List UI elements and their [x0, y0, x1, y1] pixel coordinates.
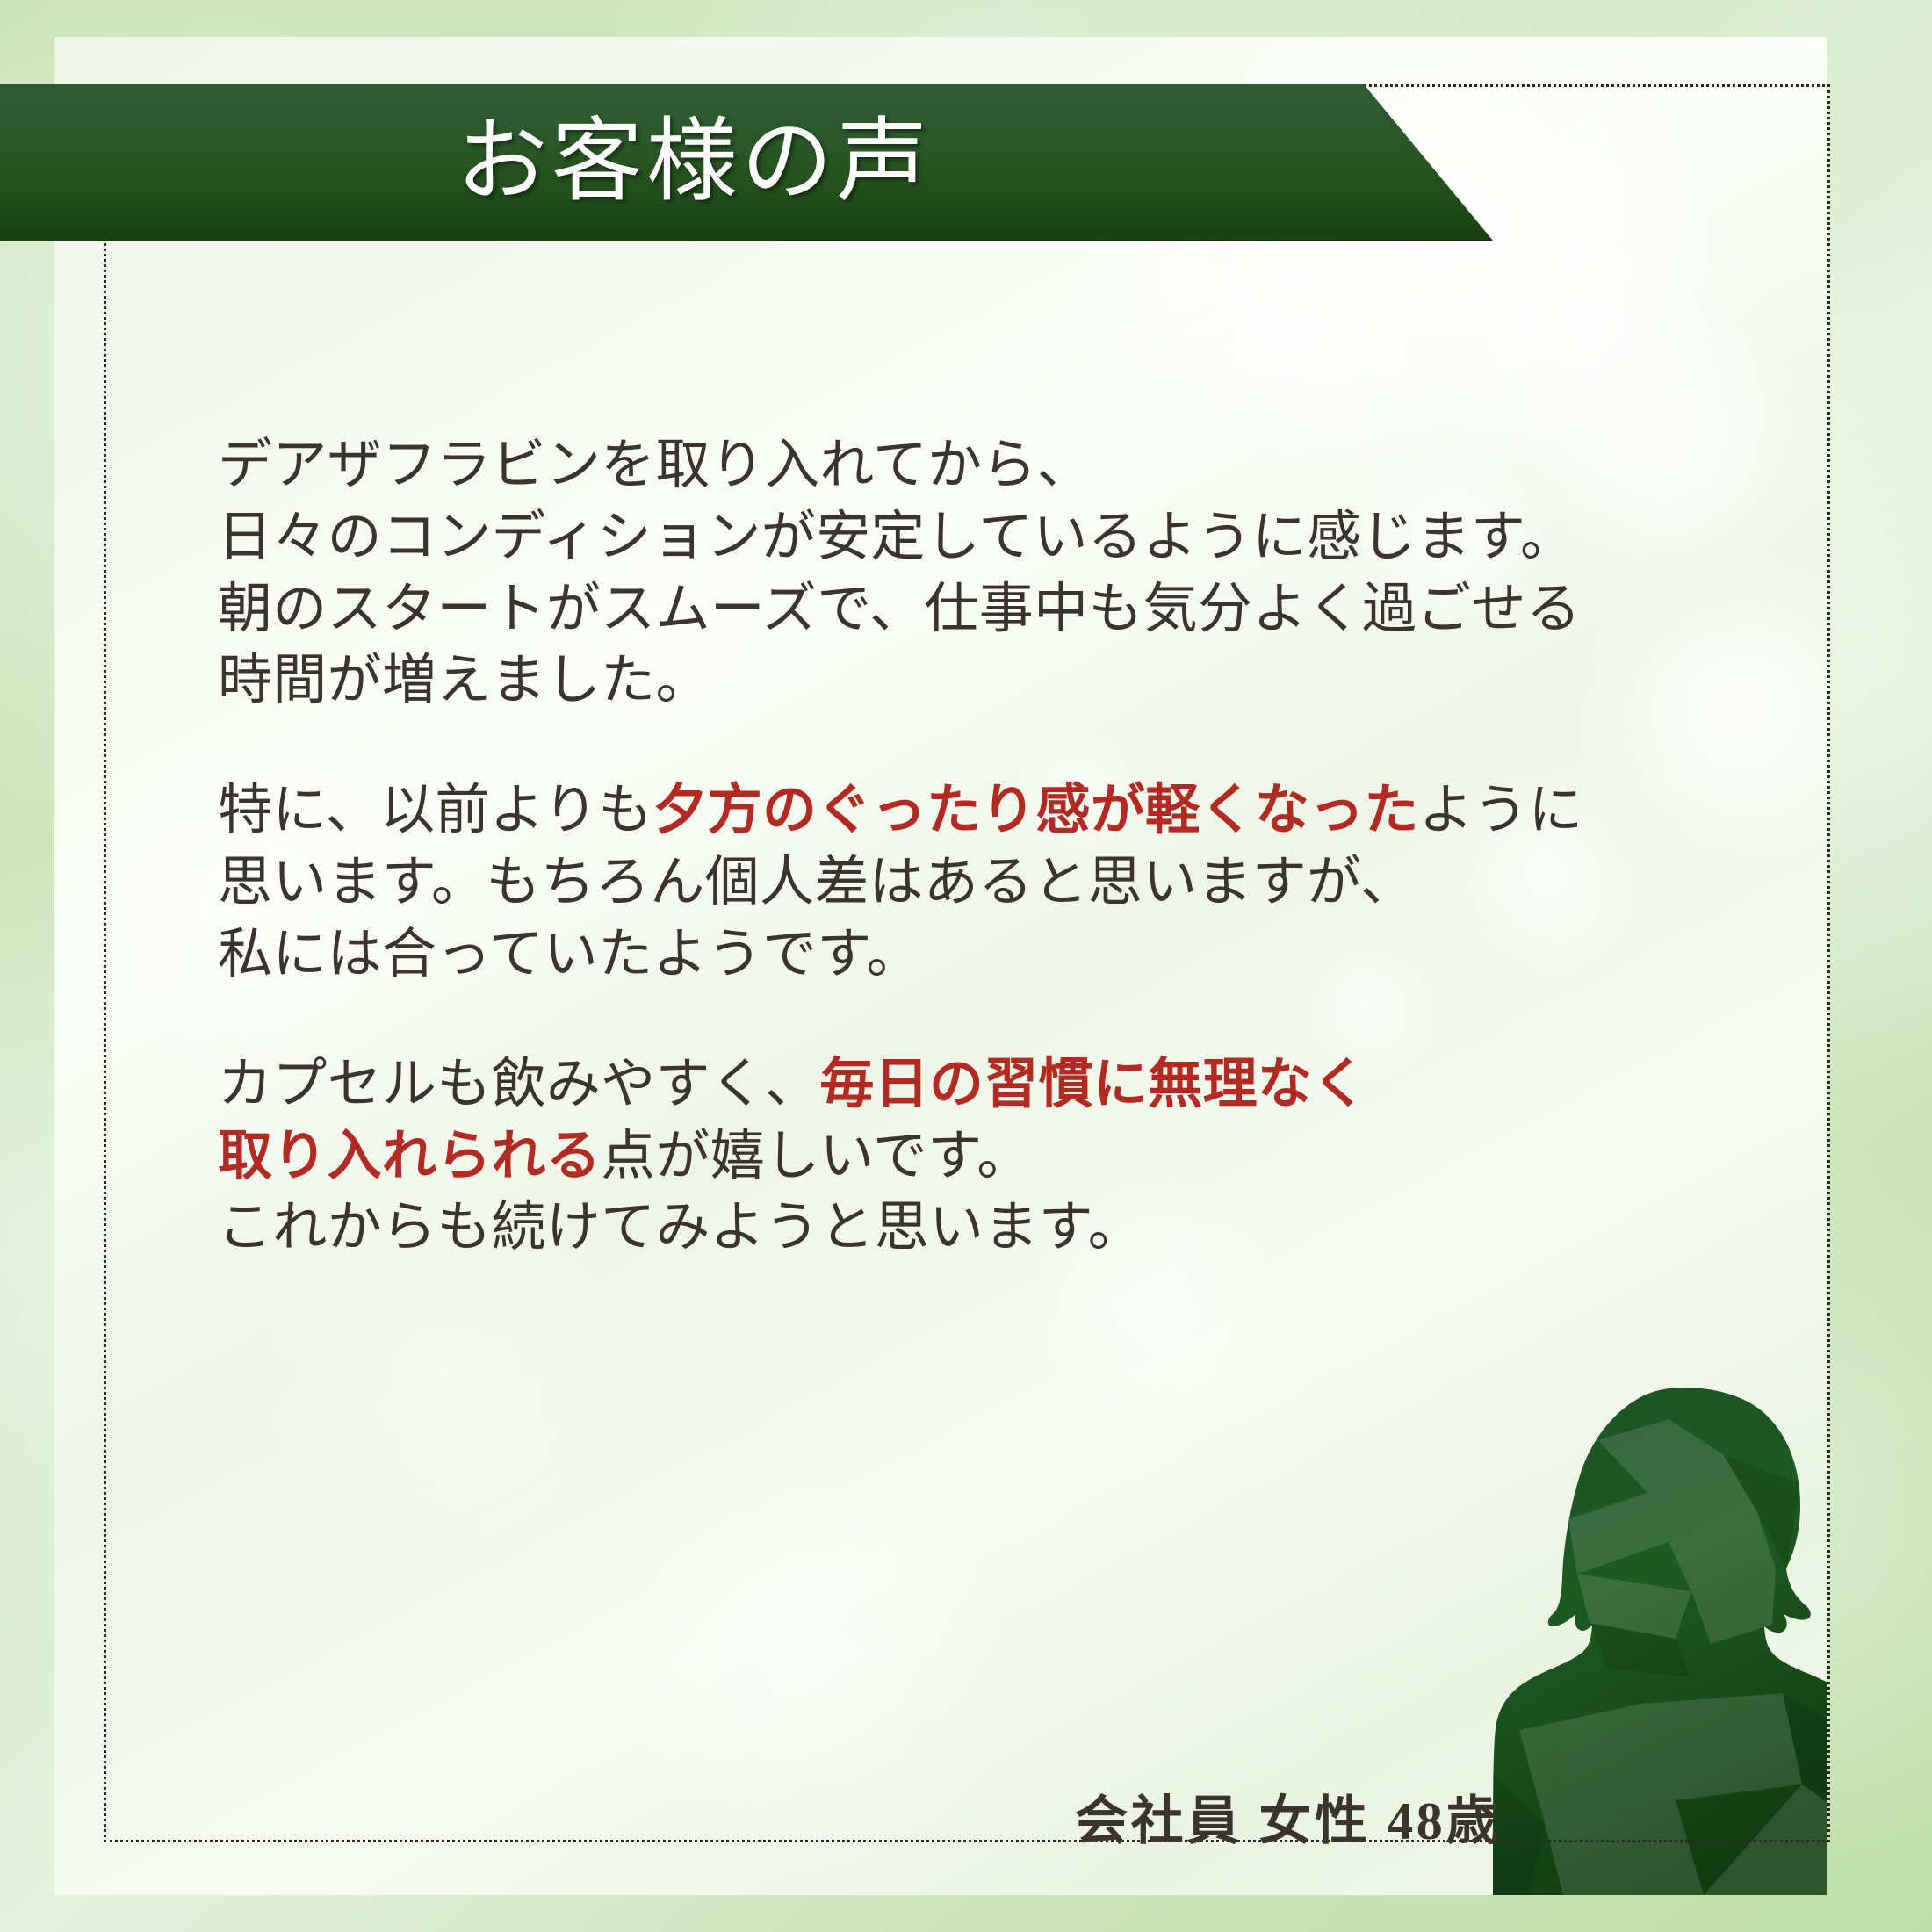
paragraph-2: 特に、以前よりも夕方のぐったり感が軽くなったように思います。もちろん個人差はある… — [218, 775, 1711, 991]
testimonial-line: 朝のスタートがスムーズで、仕事中も気分よく過ごせる — [218, 574, 1711, 646]
testimonial-line: カプセルも飲みやすく、毎日の習慣に無理なく — [218, 1049, 1711, 1121]
attribution-label: 会社員 女性 48歳 — [1075, 1778, 1502, 1855]
body-text: 思います。もちろん個人差はあると思いますが、 — [218, 853, 1415, 912]
avatar-silhouette-icon — [1493, 1388, 1827, 1895]
testimonial-line: 取り入れられる点が嬉しいです。 — [218, 1121, 1711, 1193]
body-text: 点が嬉しいです。 — [601, 1127, 1031, 1186]
testimonial-card: お客様の声 デアザフラビンを取り入れてから、日々のコンディションが安定しているよ… — [0, 0, 1932, 1932]
highlighted-text: 毎日の習慣に無理なく — [819, 1055, 1366, 1114]
testimonial-line: 日々のコンディションが安定しているように感じます。 — [218, 502, 1711, 574]
body-text: デアザフラビンを取り入れてから、 — [218, 436, 1092, 495]
body-text: 日々のコンディションが安定しているように感じます。 — [218, 508, 1575, 567]
paragraph-3: カプセルも飲みやすく、毎日の習慣に無理なく取り入れられる点が嬉しいです。これから… — [218, 1049, 1711, 1265]
testimonial-line: 時間が増えました。 — [218, 645, 1711, 717]
body-text: 時間が増えました。 — [218, 651, 710, 710]
highlighted-text: 夕方のぐったり感が軽くなった — [652, 781, 1418, 840]
header-banner: お客様の声 — [0, 84, 1493, 241]
testimonial-line: 特に、以前よりも夕方のぐったり感が軽くなったように — [218, 775, 1711, 847]
body-text: ように — [1419, 781, 1583, 840]
body-text: カプセルも飲みやすく、 — [218, 1055, 819, 1114]
testimonial-body: デアザフラビンを取り入れてから、日々のコンディションが安定しているように感じます… — [218, 430, 1711, 1265]
testimonial-line: 私には合っていたようです。 — [218, 919, 1711, 991]
page-title: お客様の声 — [457, 117, 1037, 208]
body-text: 特に、以前よりも — [218, 781, 652, 840]
body-text: これからも続けてみようと思います。 — [218, 1198, 1143, 1258]
body-text: 私には合っていたようです。 — [218, 925, 921, 984]
testimonial-line: 思います。もちろん個人差はあると思いますが、 — [218, 847, 1711, 919]
testimonial-line: これからも続けてみようと思います。 — [218, 1193, 1711, 1265]
paragraph-1: デアザフラビンを取り入れてから、日々のコンディションが安定しているように感じます… — [218, 430, 1711, 717]
body-text: 朝のスタートがスムーズで、仕事中も気分よく過ごせる — [218, 580, 1581, 639]
highlighted-text: 取り入れられる — [218, 1127, 601, 1186]
testimonial-line: デアザフラビンを取り入れてから、 — [218, 430, 1711, 502]
